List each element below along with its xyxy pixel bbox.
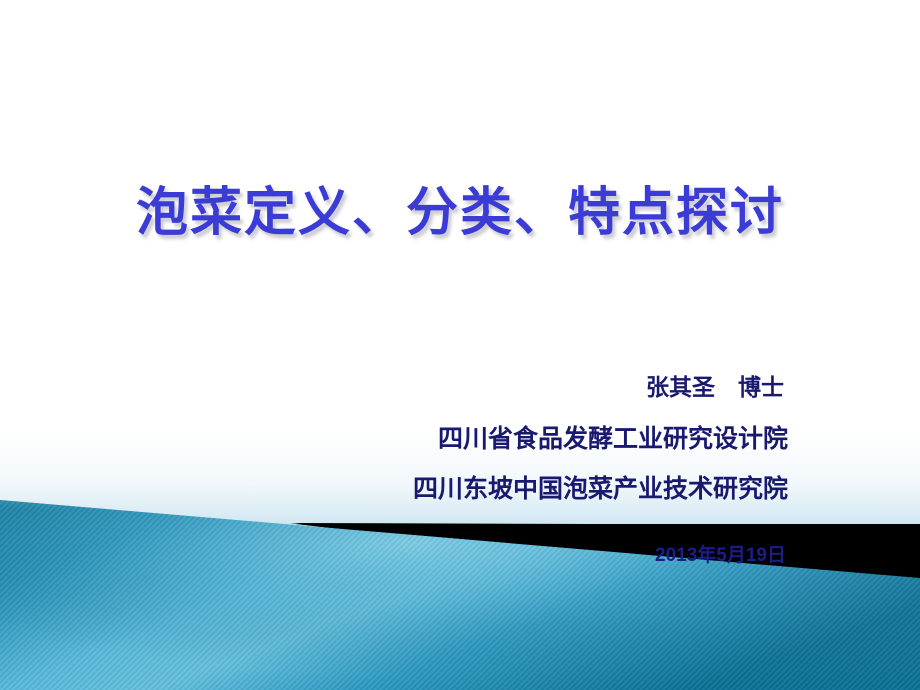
subtitle-institute-1: 四川省食品发酵工业研究设计院 [228,422,788,456]
slide-title: 泡菜定义、分类、特点探讨 [0,170,920,245]
slide-date: 2013年5月19日 [655,540,786,567]
pale-blue-haze [0,0,920,690]
subtitle-author: 张其圣 博士 [228,372,788,402]
teal-band-texture [0,0,920,690]
presentation-slide: 泡菜定义、分类、特点探讨 张其圣 博士 四川省食品发酵工业研究设计院 四川东坡中… [0,0,920,690]
black-diagonal-wedge [0,0,920,690]
subtitle-block: 张其圣 博士 四川省食品发酵工业研究设计院 四川东坡中国泡菜产业技术研究院 [228,372,788,506]
subtitle-institute-2: 四川东坡中国泡菜产业技术研究院 [228,472,788,506]
teal-diagonal-band [0,0,920,690]
